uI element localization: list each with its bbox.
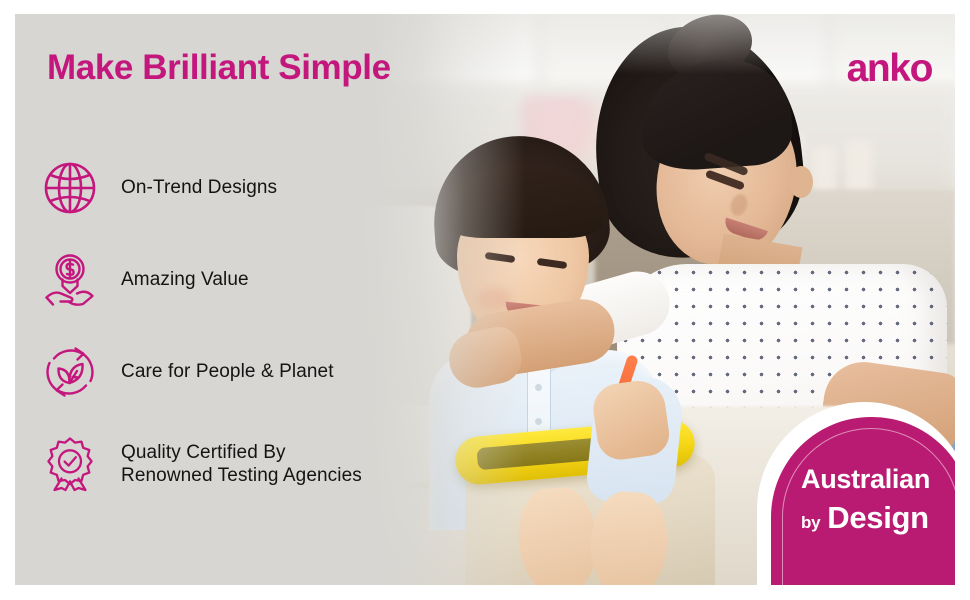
feature-row-amazing-value: Amazing Value: [37, 234, 457, 326]
feature-label-line2: Renowned Testing Agencies: [121, 465, 362, 486]
candle: [845, 140, 873, 192]
shirt-button: [535, 418, 542, 425]
award-ribbon-icon: [37, 436, 103, 492]
feature-label-line1: Quality Certified By: [121, 442, 286, 463]
coin-in-hand-icon: [37, 252, 103, 308]
shirt-button: [535, 384, 542, 391]
feature-row-on-trend-designs: On-Trend Designs: [37, 142, 457, 234]
feature-label: On-Trend Designs: [121, 176, 277, 199]
australian-by-design-badge: Australian by Design: [757, 402, 955, 585]
badge-design-word: Design: [827, 500, 929, 536]
globe-icon: [37, 160, 103, 216]
badge-line-2: by Design: [801, 500, 955, 536]
woman-ear: [789, 166, 813, 198]
badge-by-word: by: [801, 513, 820, 533]
feature-list: On-Trend Designs Amazing Value: [37, 142, 457, 510]
page-title: Make Brilliant Simple: [47, 48, 391, 88]
badge-line-1: Australian: [801, 464, 955, 495]
candle: [811, 146, 837, 192]
feature-row-quality-certified: Quality Certified ByRenowned Testing Age…: [37, 418, 457, 510]
promo-banner: Make Brilliant Simple anko On-Trend Desi…: [15, 14, 955, 585]
feature-label: Care for People & Planet: [121, 360, 334, 383]
feature-label: Amazing Value: [121, 268, 249, 291]
anko-logo: anko: [847, 49, 932, 88]
feature-row-care-for-people-and-planet: Care for People & Planet: [37, 326, 457, 418]
recycle-leaf-icon: [37, 344, 103, 400]
feature-label: Quality Certified ByRenowned Testing Age…: [121, 441, 362, 487]
